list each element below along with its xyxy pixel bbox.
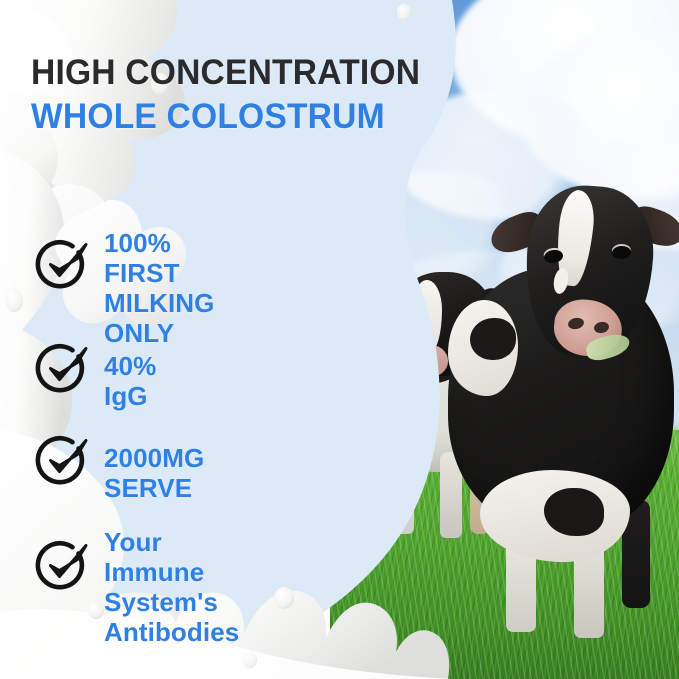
feature-label: Your Immune System's Antibodies — [104, 527, 239, 647]
check-circle-icon — [34, 432, 90, 488]
headline-line-2: WHOLE COLOSTRUM — [31, 98, 444, 135]
feature-label: 2000MG SERVE — [104, 443, 204, 503]
headline-line-1: HIGH CONCENTRATION — [31, 54, 444, 91]
infographic-canvas: HIGH CONCENTRATION WHOLE COLOSTRUM 100% … — [0, 0, 679, 679]
headline-block: HIGH CONCENTRATION WHOLE COLOSTRUM — [31, 54, 461, 135]
content-layer: HIGH CONCENTRATION WHOLE COLOSTRUM 100% … — [0, 0, 679, 679]
feature-label: 100% FIRST MILKING ONLY — [104, 228, 214, 348]
check-circle-icon — [34, 340, 90, 396]
check-circle-icon — [34, 537, 90, 593]
feature-label: 40% IgG — [104, 351, 156, 411]
check-circle-icon — [34, 236, 90, 292]
